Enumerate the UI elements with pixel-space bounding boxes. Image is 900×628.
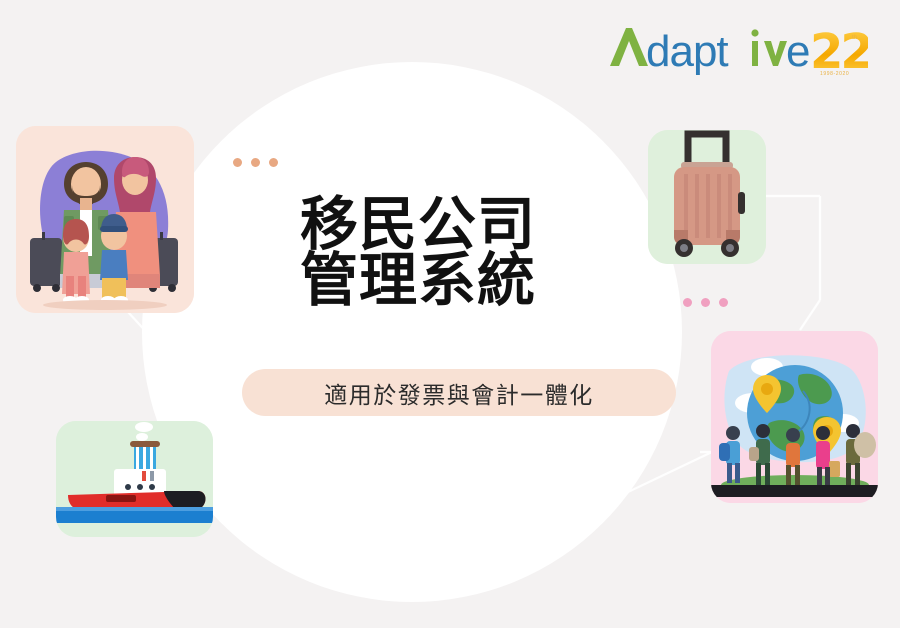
dots-decoration-left [233,158,278,167]
illustration-card-family [16,126,194,313]
dots-decoration-right [683,298,728,307]
page-title-line-1: 移民公司 [300,196,630,252]
illustration-card-boat [56,421,213,537]
dot [269,158,278,167]
dot [233,158,242,167]
dot [701,298,710,307]
subtitle-text: 適用於發票與會計一體化 [324,376,594,410]
page-title: 移民公司 管理系統 [300,196,630,309]
dot [683,298,692,307]
svg-text:e: e [786,27,809,76]
illustration-card-globe [711,331,878,503]
svg-text:dapt: dapt [646,27,728,76]
dot [719,298,728,307]
adaptive22-logo: dapt e 22 th 1998-2020 [606,22,868,78]
svg-text:1998-2020: 1998-2020 [820,71,849,77]
dot [251,158,260,167]
illustration-card-suitcase [648,130,766,264]
page-title-line-2: 管理系統 [300,252,630,308]
subtitle-badge: 適用於發票與會計一體化 [242,369,676,416]
poster-canvas: dapt e 22 th 1998-2020 移民公司 管理系統 [0,0,900,628]
svg-text:th: th [852,35,857,41]
